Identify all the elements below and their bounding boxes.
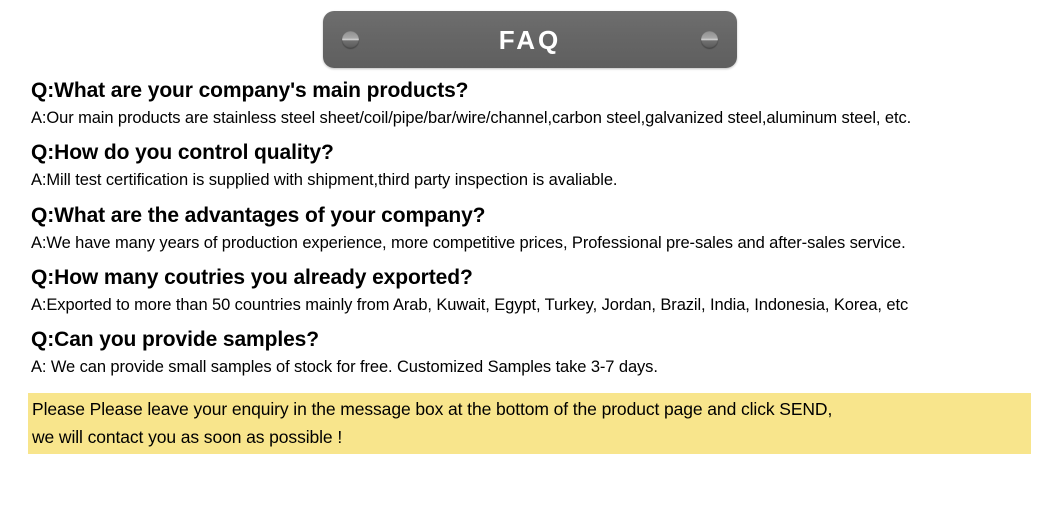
enquiry-note-line-1: Please Please leave your enquiry in the … bbox=[32, 395, 1028, 423]
faq-answer: A:We have many years of production exper… bbox=[31, 233, 1042, 254]
faq-title-plate: FAQ bbox=[323, 11, 737, 68]
screw-icon-left bbox=[342, 31, 359, 48]
faq-answer: A:Mill test certification is supplied wi… bbox=[31, 170, 1042, 191]
faq-question: Q:Can you provide samples? bbox=[31, 327, 1042, 354]
faq-answer: A:Exported to more than 50 countries mai… bbox=[31, 295, 1042, 316]
faq-page: FAQ Q:What are your company's main produ… bbox=[0, 0, 1060, 517]
faq-answer: A: We can provide small samples of stock… bbox=[31, 357, 1042, 378]
faq-item: Q:What are the advantages of your compan… bbox=[31, 203, 1042, 254]
faq-question: Q:What are your company's main products? bbox=[31, 78, 1042, 105]
faq-question: Q:How do you control quality? bbox=[31, 140, 1042, 167]
enquiry-note-line-2: we will contact you as soon as possible … bbox=[32, 423, 1028, 451]
faq-question: Q:How many coutries you already exported… bbox=[31, 265, 1042, 292]
page-title: FAQ bbox=[499, 27, 561, 53]
faq-item: Q:How many coutries you already exported… bbox=[31, 265, 1042, 316]
faq-answer: A:Our main products are stainless steel … bbox=[31, 108, 1042, 129]
screw-icon-right bbox=[701, 31, 718, 48]
enquiry-note-wrapper: Please Please leave your enquiry in the … bbox=[0, 390, 1060, 455]
faq-header: FAQ bbox=[0, 0, 1060, 68]
faq-list: Q:What are your company's main products?… bbox=[0, 68, 1060, 379]
faq-item: Q:What are your company's main products?… bbox=[31, 78, 1042, 129]
faq-item: Q:How do you control quality? A:Mill tes… bbox=[31, 140, 1042, 191]
faq-question: Q:What are the advantages of your compan… bbox=[31, 203, 1042, 230]
enquiry-note: Please Please leave your enquiry in the … bbox=[28, 393, 1031, 455]
faq-item: Q:Can you provide samples? A: We can pro… bbox=[31, 327, 1042, 378]
